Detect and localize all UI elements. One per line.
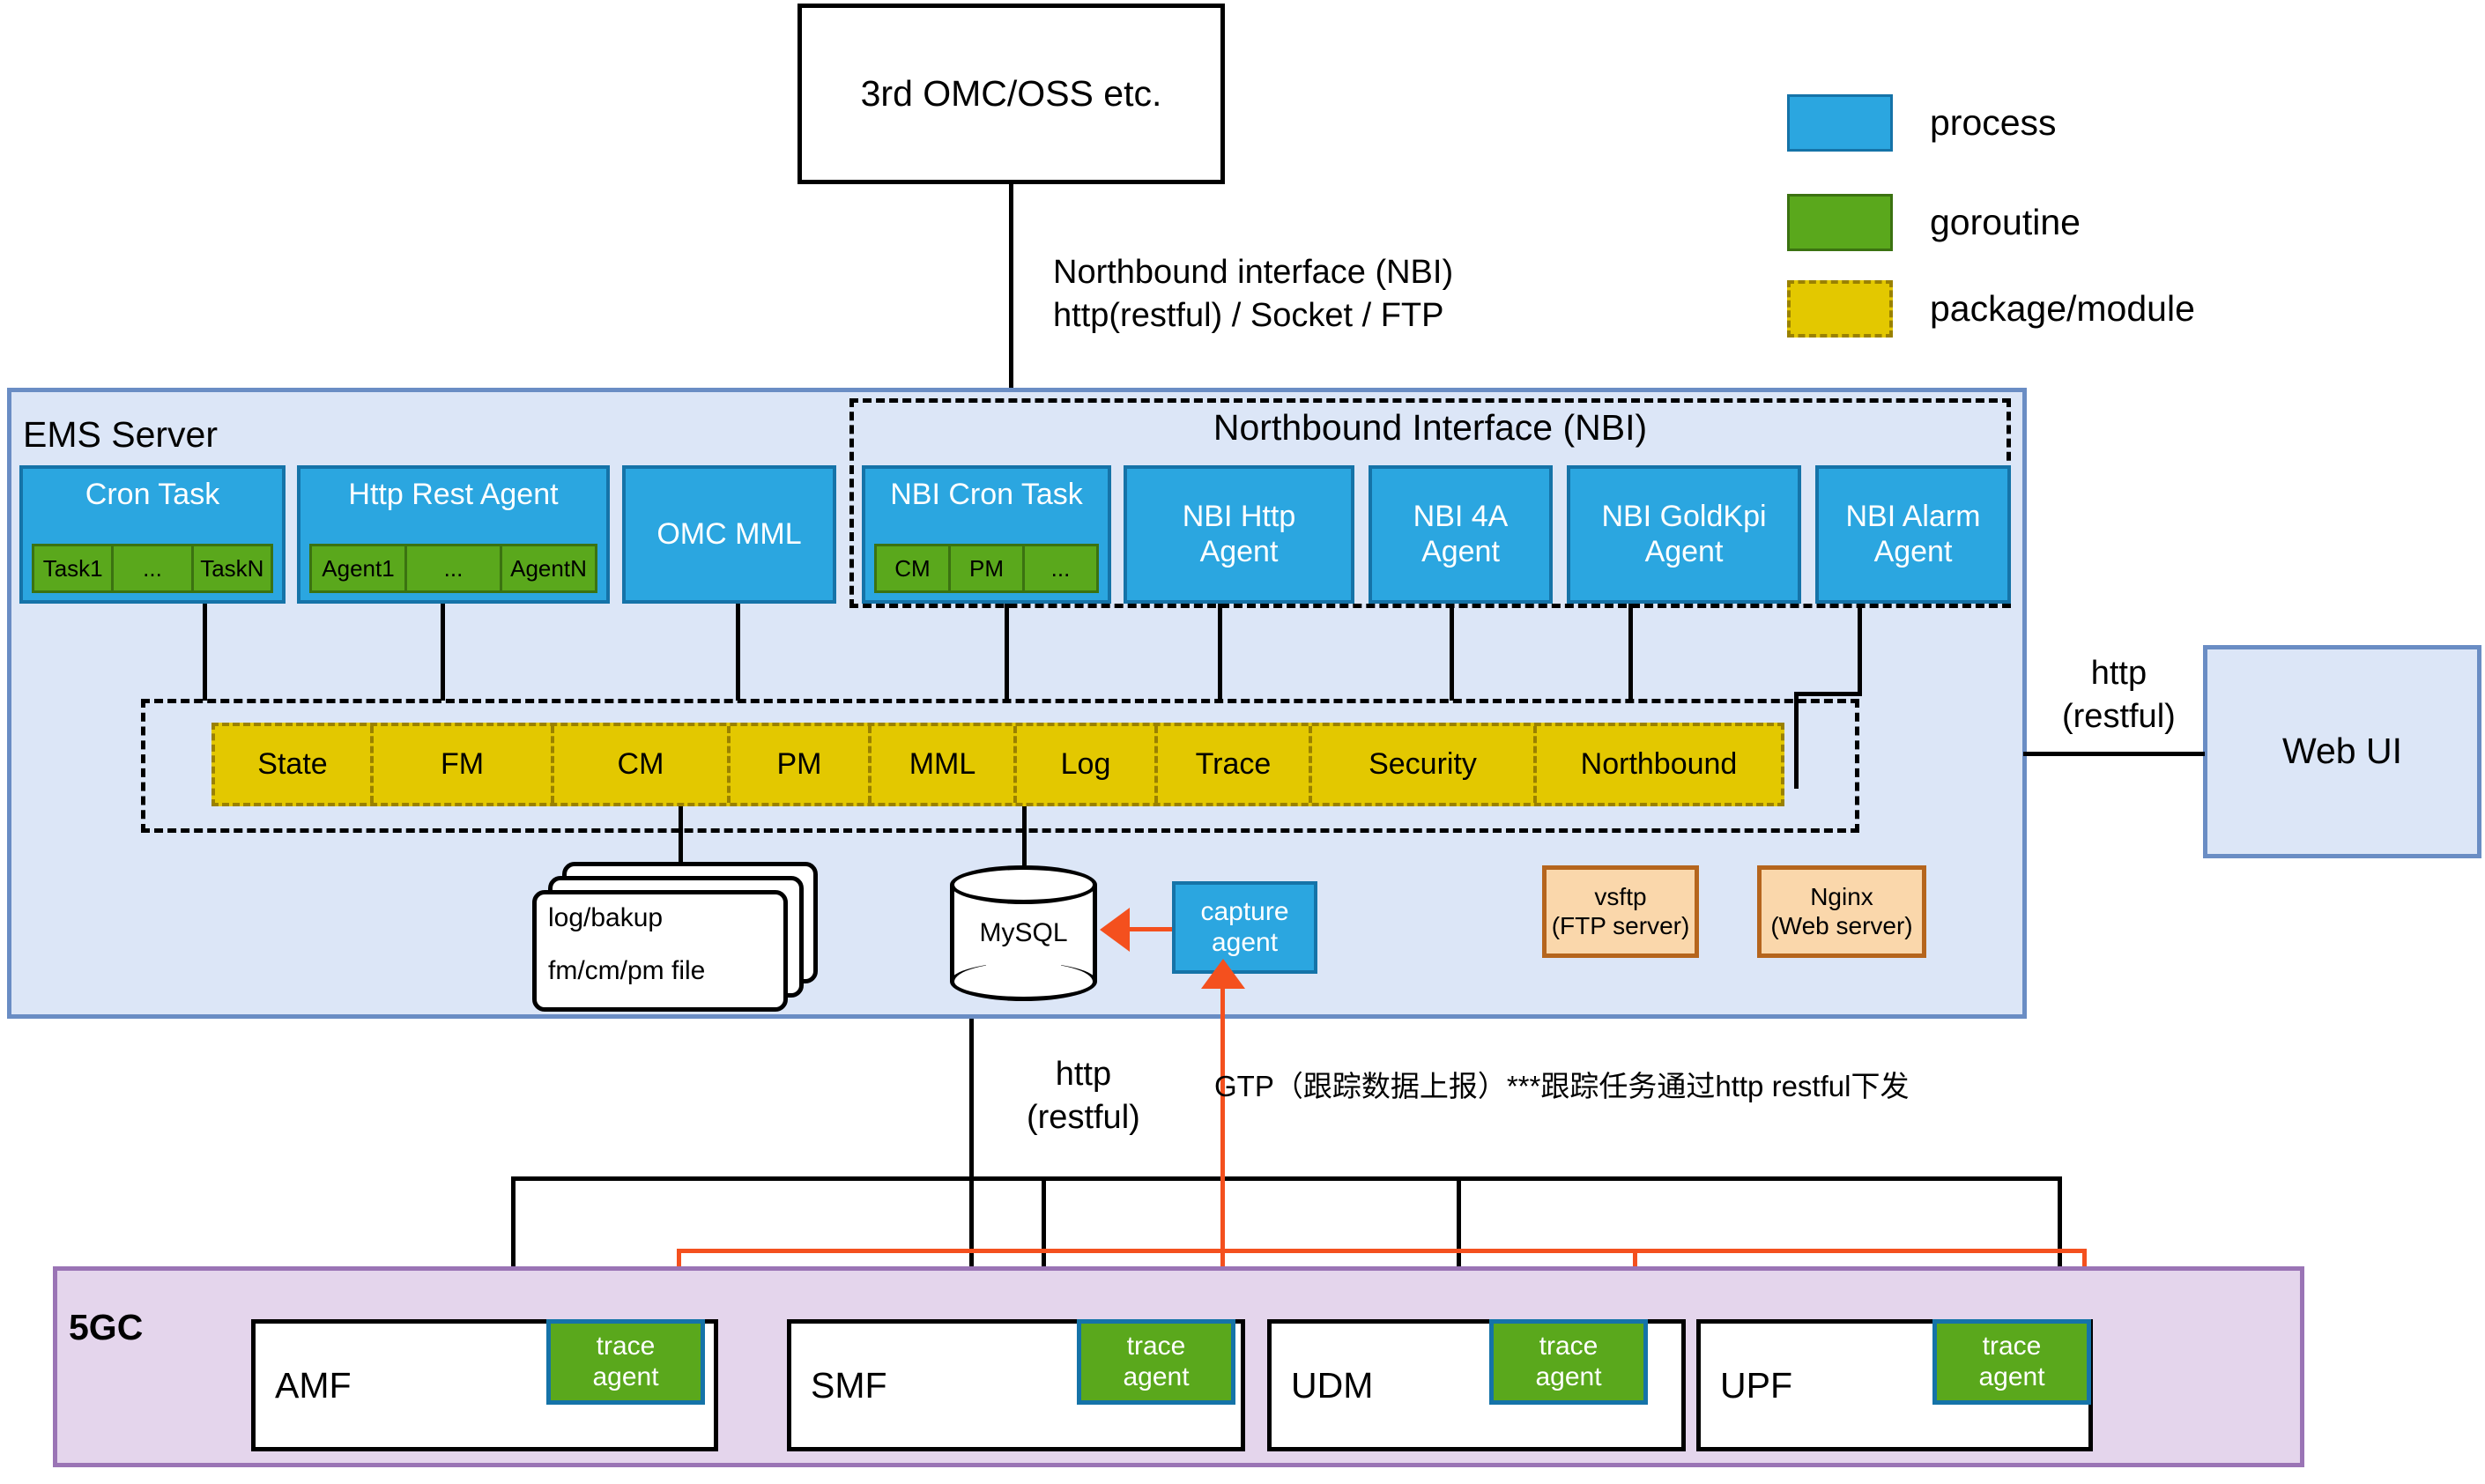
mysql-top [950,865,1097,904]
module-security[interactable]: Security [1312,726,1537,803]
legend-swatch-goroutine [1787,194,1893,251]
module-mml[interactable]: MML [872,726,1017,803]
module-fm[interactable]: FM [374,726,554,803]
module-trace[interactable]: Trace [1158,726,1312,803]
http-rest-agent-to-module-connector [441,604,445,701]
nbi-group-title: Northbound Interface (NBI) [849,405,2011,451]
ems-server-title: EMS Server [23,414,218,456]
nf-label-udm: UDM [1291,1365,1373,1406]
goroutine-cm[interactable]: CM [877,546,951,590]
trace-agent-amf[interactable]: trace agent [546,1319,705,1405]
omc-mml-to-module-connector [736,604,740,701]
mysql-bottom [950,962,1097,1001]
south-http-label: http (restful) [1027,1053,1140,1139]
module-cm[interactable]: CM [554,726,731,803]
nbi-link-label: Northbound interface (NBI) http(restful)… [1053,251,1453,337]
file-label: log/bakup fm/cm/pm file [548,892,705,998]
nbi-cron-task-to-module-connector [1005,604,1009,701]
trace-agent-udm[interactable]: trace agent [1489,1319,1648,1405]
nginx-server-label: Nginx (Web server) [1770,883,1912,939]
process-nbi-4a-agent[interactable]: NBI 4A Agent [1369,465,1553,604]
trace-agent-smf-label: trace agent [1123,1332,1189,1392]
nbi-4a-agent-to-module-connector [1450,604,1454,701]
process-nbi-alarm-agent-label: NBI Alarm Agent [1845,500,1980,568]
process-omc-mml-label: OMC MML [656,517,801,552]
vsftp-server-label: vsftp (FTP server) [1552,883,1690,939]
gtp-annotation-label: GTP（跟踪数据上报）***跟踪任务通过http restful下发 [1214,1068,1909,1104]
trace-agent-amf-label: trace agent [592,1332,658,1392]
legend-label-goroutine: goroutine [1930,194,2081,251]
process-nbi-goldkpi-agent[interactable]: NBI GoldKpi Agent [1567,465,1801,604]
cron-task-to-module-connector [203,604,207,701]
nginx-line2: (Web server) [1770,912,1912,939]
mysql-database: MySQL [950,865,1097,1001]
gtp-distribution-bus [677,1249,2087,1253]
architecture-diagram: 3rd OMC/OSS etc. Northbound interface (N… [0,0,2485,1484]
capture-to-mysql-arrowhead [1100,908,1130,952]
nbi-alarm-agent-connector-seg1 [1858,604,1862,696]
web-ui-box[interactable]: Web UI [2203,645,2481,858]
gtp-trunk-arrowhead [1201,959,1245,989]
process-nbi-alarm-agent[interactable]: NBI Alarm Agent [1815,465,2011,604]
trace-agent-smf[interactable]: trace agent [1077,1319,1235,1405]
process-http-rest-agent-label: Http Rest Agent [300,478,606,511]
module-state[interactable]: State [215,726,374,803]
nginx-line1: Nginx [1810,883,1873,910]
file-label-line2: fm/cm/pm file [548,945,705,998]
legend-label-module: package/module [1930,280,2195,338]
module-to-mysql-connector [1022,806,1027,865]
nf-label-amf: AMF [275,1365,352,1406]
capture-agent-label: capture agent [1200,897,1288,958]
5gc-title: 5GC [69,1307,143,1348]
legend-label-process: process [1930,94,2057,152]
log-backup-files: log/bakup fm/cm/pm file [529,862,833,1003]
webui-link-label: http (restful) [2062,652,2176,738]
goroutine-ellipsis: ... [114,546,193,590]
process-nbi-4a-agent-label: NBI 4A Agent [1413,500,1509,568]
external-oss-box: 3rd OMC/OSS etc. [797,4,1225,184]
goroutine-taskn[interactable]: TaskN [194,546,271,590]
web-ui-label: Web UI [2282,731,2402,772]
file-label-line1: log/bakup [548,892,705,945]
goroutine-strip-http-rest-agent: Agent1 ... AgentN [309,544,597,593]
process-nbi-http-agent[interactable]: NBI Http Agent [1124,465,1354,604]
process-nbi-goldkpi-agent-label: NBI GoldKpi Agent [1601,500,1766,568]
nbi-alarm-agent-connector-seg2 [1794,692,1862,696]
process-nbi-cron-task-label: NBI Cron Task [865,478,1108,511]
module-to-files-connector [679,806,683,865]
nf-label-smf: SMF [811,1365,887,1406]
external-oss-label: 3rd OMC/OSS etc. [861,73,1162,115]
process-cron-task-label: Cron Task [23,478,282,511]
process-omc-mml[interactable]: OMC MML [622,465,836,604]
oss-to-ems-connector [1009,184,1013,392]
goroutine-task1[interactable]: Task1 [34,546,114,590]
goroutine-pm[interactable]: PM [951,546,1025,590]
trace-agent-udm-label: trace agent [1535,1332,1601,1392]
goroutine-ellipsis-3: ... [1025,546,1096,590]
vsftp-line2: (FTP server) [1552,912,1690,939]
module-bar: State FM CM PM MML Log Trace Security No… [211,723,1784,806]
goroutine-agentn[interactable]: AgentN [502,546,595,590]
nbi-http-agent-to-module-connector [1218,604,1222,701]
trace-agent-upf-label: trace agent [1978,1332,2044,1392]
gtp-trunk-line [1220,983,1225,1251]
nf-label-upf: UPF [1720,1365,1792,1406]
nginx-server-box[interactable]: Nginx (Web server) [1757,865,1926,958]
vsftp-line1: vsftp [1594,883,1646,910]
process-nbi-http-agent-label: NBI Http Agent [1183,500,1295,568]
module-pm[interactable]: PM [731,726,872,803]
goroutine-strip-cron-task: Task1 ... TaskN [32,544,273,593]
capture-to-mysql-arrow-line [1126,927,1176,931]
ems-to-5gc-trunk [969,1019,974,1267]
ems-to-webui-connector [2023,752,2205,756]
nbi-goldkpi-agent-to-module-connector [1628,604,1633,701]
goroutine-ellipsis-2: ... [407,546,502,590]
goroutine-agent1[interactable]: Agent1 [312,546,407,590]
goroutine-strip-nbi-cron-task: CM PM ... [874,544,1099,593]
vsftp-server-box[interactable]: vsftp (FTP server) [1542,865,1699,958]
legend-swatch-module [1787,280,1893,338]
module-log[interactable]: Log [1017,726,1158,803]
trace-agent-upf[interactable]: trace agent [1932,1319,2091,1405]
legend-swatch-process [1787,94,1893,152]
module-northbound[interactable]: Northbound [1537,726,1781,803]
5gc-distribution-bus [511,1176,2062,1181]
mysql-label: MySQL [950,918,1097,948]
